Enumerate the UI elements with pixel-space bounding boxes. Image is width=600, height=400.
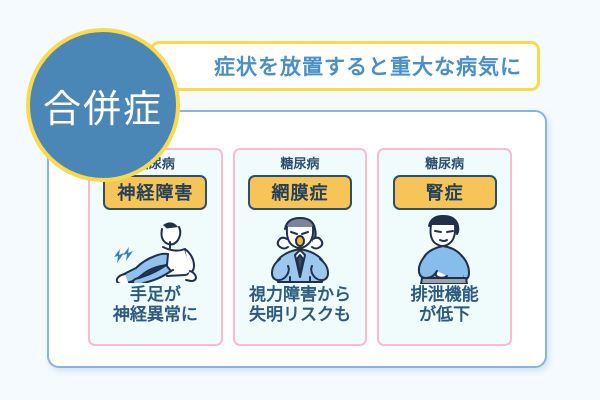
circle-badge: 合併症 — [26, 28, 180, 182]
card-caption: 視力障害から 失明リスクも — [249, 285, 351, 325]
circle-badge-label: 合併症 — [43, 78, 163, 133]
card-badge-label: 腎症 — [393, 175, 497, 210]
complication-card-list: 糖尿病 神経障害 — [88, 148, 512, 346]
card-sub-label: 糖尿病 — [281, 156, 320, 172]
card-caption-line: 視力障害から — [249, 285, 351, 305]
card-caption: 排泄機能 が低下 — [411, 285, 479, 325]
card-caption-line: が低下 — [411, 305, 479, 325]
seated-man-leg-pain-illustration — [90, 212, 221, 284]
man-holding-abdomen-illustration — [379, 212, 510, 284]
card-sub-label: 糖尿病 — [425, 156, 464, 172]
card-caption-line: 失明リスクも — [249, 305, 351, 325]
complication-card[interactable]: 糖尿病 腎症 排 — [377, 148, 512, 346]
complication-card[interactable]: 糖尿病 網膜症 — [233, 148, 368, 346]
card-caption: 手足が 神経異常に — [113, 285, 198, 325]
header-banner: 症状を放置すると重大な病気に — [150, 41, 540, 91]
card-badge-label: 網膜症 — [248, 175, 352, 210]
card-caption-line: 手足が — [113, 285, 198, 305]
header-banner-text: 症状を放置すると重大な病気に — [168, 51, 522, 81]
card-caption-line: 神経異常に — [113, 305, 198, 325]
infographic-root: 症状を放置すると重大な病気に 合併症 糖尿病 神経障害 — [0, 0, 600, 400]
man-covering-eyes-illustration — [235, 212, 366, 284]
card-caption-line: 排泄機能 — [411, 285, 479, 305]
